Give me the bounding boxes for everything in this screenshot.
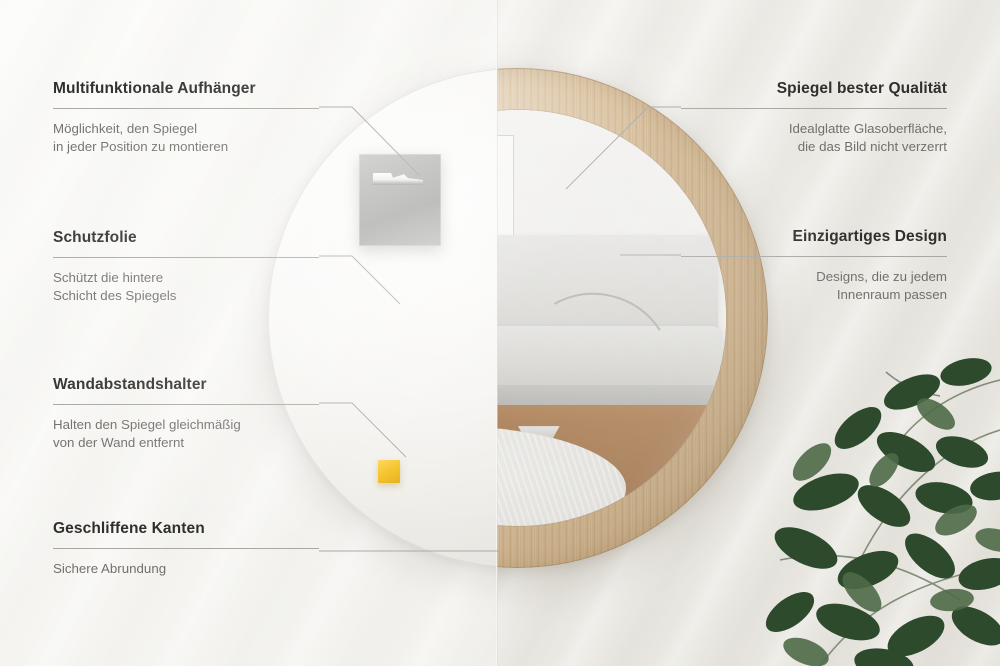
feature-title: Spiegel bester Qualität xyxy=(681,80,947,99)
wall-spacer-block xyxy=(378,460,400,483)
feature-title: Wandabstandshalter xyxy=(53,376,319,395)
feature-title: Multifunktionale Aufhänger xyxy=(53,80,319,99)
feature-callout-schutzfolie: Schutzfolie Schützt die hintere Schicht … xyxy=(53,229,319,306)
feature-divider xyxy=(53,548,319,549)
feature-divider xyxy=(681,108,947,109)
feature-title: Einzigartiges Design xyxy=(681,228,947,247)
hanger-keyhole-slot xyxy=(373,173,423,185)
feature-divider xyxy=(681,256,947,257)
feature-divider xyxy=(53,108,319,109)
feature-description: Möglichkeit, den Spiegel in jeder Positi… xyxy=(53,120,319,158)
feature-description: Halten den Spiegel gleichmäßig von der W… xyxy=(53,416,319,454)
feature-callout-geschliffene-kanten: Geschliffene Kanten Sichere Abrundung xyxy=(53,520,319,578)
feature-divider xyxy=(53,404,319,405)
feature-callout-einzigartiges-design: Einzigartiges Design Designs, die zu jed… xyxy=(681,228,947,305)
feature-description: Schützt die hintere Schicht des Spiegels xyxy=(53,269,319,307)
feature-callout-spiegel-bester-qualitaet: Spiegel bester Qualität Idealglatte Glas… xyxy=(681,80,947,157)
hanger-plate xyxy=(359,154,441,246)
feature-title: Schutzfolie xyxy=(53,229,319,248)
feature-description: Designs, die zu jedem Innenraum passen xyxy=(681,268,947,306)
feature-description: Sichere Abrundung xyxy=(53,560,319,579)
feature-divider xyxy=(53,257,319,258)
infographic-canvas: Multifunktionale Aufhänger Möglichkeit, … xyxy=(0,0,1000,666)
feature-title: Geschliffene Kanten xyxy=(53,520,319,539)
feature-description: Idealglatte Glasoberfläche, die das Bild… xyxy=(681,120,947,158)
feature-callout-multifunktionale-aufhaenger: Multifunktionale Aufhänger Möglichkeit, … xyxy=(53,80,319,157)
feature-callout-wandabstandshalter: Wandabstandshalter Halten den Spiegel gl… xyxy=(53,376,319,453)
view-split-seam xyxy=(496,0,498,666)
